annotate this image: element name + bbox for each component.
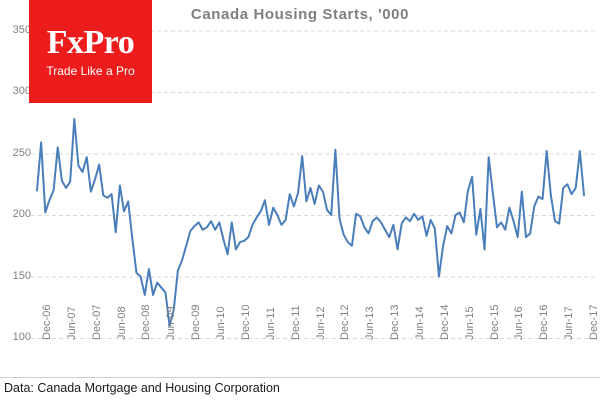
chart-container: Canada Housing Starts, '000 100150200250… xyxy=(0,0,600,400)
x-axis-tick-label: Jun-07 xyxy=(67,306,78,340)
footer-divider xyxy=(0,377,600,378)
x-axis-tick-label: Dec-16 xyxy=(539,305,550,340)
x-axis-tick-label: Jun-15 xyxy=(465,306,476,340)
x-axis-tick-label: Dec-14 xyxy=(440,305,451,340)
x-axis-tick-label: Jun-14 xyxy=(415,306,426,340)
x-axis-tick-label: Dec-13 xyxy=(390,305,401,340)
x-axis-tick-label: Jun-12 xyxy=(316,306,327,340)
x-axis-tick-label: Dec-06 xyxy=(42,305,53,340)
x-axis-tick-label: Jun-16 xyxy=(514,306,525,340)
x-axis-tick-label: Dec-08 xyxy=(141,305,152,340)
x-axis-tick-label: Dec-11 xyxy=(291,305,302,340)
x-axis-tick-label: Jun-09 xyxy=(166,306,177,340)
x-axis-tick-label: Jun-08 xyxy=(117,306,128,340)
x-axis-tick-label: Dec-15 xyxy=(490,305,501,340)
x-axis-tick-label: Dec-07 xyxy=(92,305,103,340)
x-axis-tick-label: Dec-10 xyxy=(241,305,252,340)
logo-tagline: Trade Like a Pro xyxy=(46,64,134,78)
x-axis-tick-label: Jun-17 xyxy=(564,306,575,340)
x-axis-tick-label: Jun-10 xyxy=(216,306,227,340)
x-axis-tick-label: Dec-12 xyxy=(340,305,351,340)
logo-wordmark: FxPro xyxy=(47,25,135,61)
x-axis-tick-label: Dec-17 xyxy=(589,305,600,340)
x-axis-tick-label: Jun-13 xyxy=(365,306,376,340)
fxpro-logo: FxPro Trade Like a Pro xyxy=(29,0,152,103)
data-source-note: Data: Canada Mortgage and Housing Corpor… xyxy=(4,381,280,395)
x-axis-tick-label: Dec-09 xyxy=(191,305,202,340)
x-axis-tick-label: Jun-11 xyxy=(266,307,277,340)
